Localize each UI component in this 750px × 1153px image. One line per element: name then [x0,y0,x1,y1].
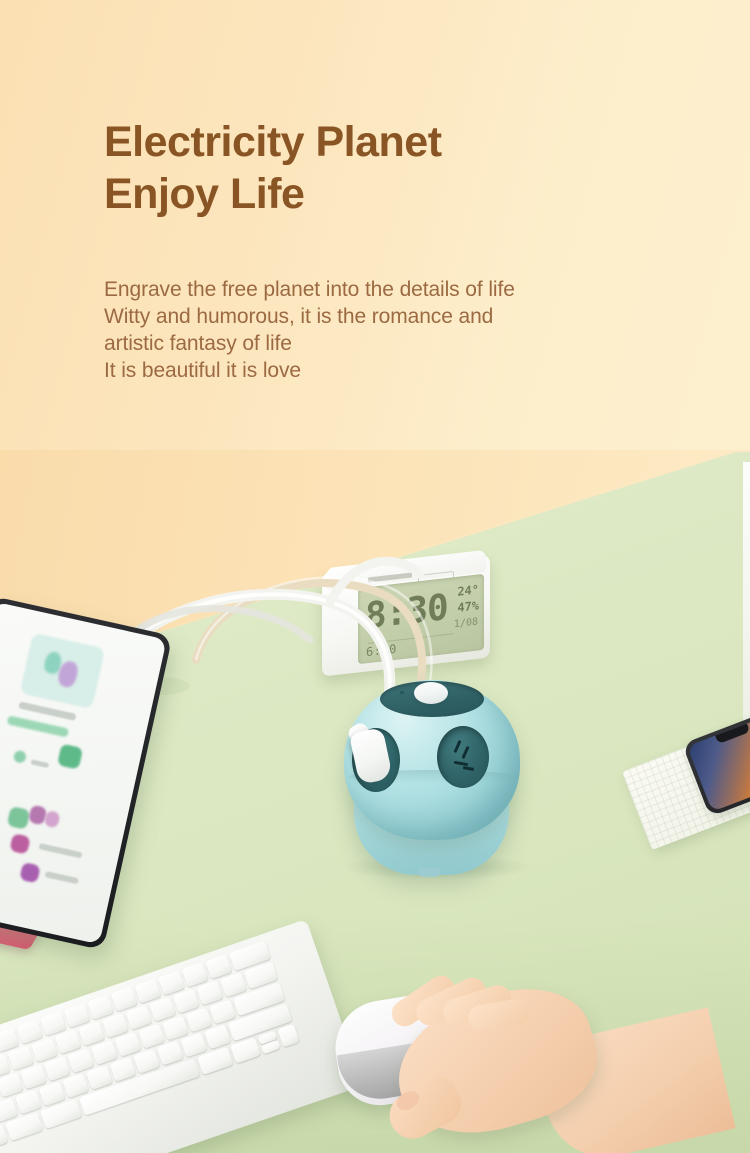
mouse-and-hand [336,988,750,1153]
notebook-with-phone [632,728,750,878]
page-title: Electricity Planet Enjoy Life [104,116,442,220]
tablet-body [0,596,173,951]
app-icon [57,743,83,769]
clock-alarm-time: 6:00 [366,642,397,660]
keyboard-key[interactable] [15,1089,42,1114]
app-icon [7,806,31,830]
app-text-line [44,871,78,884]
right-edge-strip [743,462,750,722]
hand-on-mouse [358,982,688,1153]
power-button[interactable] [414,682,448,704]
app-highlight-bar [7,715,69,737]
keyboard-key-arrow-right[interactable] [277,1024,299,1047]
product-lifestyle-photo: 8:30 24° 47% 1/08 6:00 [0,450,750,1153]
clock-lcd-screen: 8:30 24° 47% 1/08 6:00 [358,574,484,664]
socket-indicator-dot [400,691,404,694]
spherical-power-socket [330,678,535,878]
app-text-line [38,843,82,858]
product-promo-page: Electricity Planet Enjoy Life Engrave th… [0,0,750,1153]
page-subtitle: Engrave the free planet into the details… [104,276,515,384]
app-text-line [31,759,50,768]
socket-bottom-tab [418,868,440,877]
clock-humidity: 47% [457,598,479,614]
app-icon [19,862,40,883]
digital-alarm-clock: 8:30 24° 47% 1/08 6:00 [322,555,490,670]
tablet-device [0,612,154,942]
keyboard-key[interactable] [204,1024,231,1049]
app-text-line [18,701,76,720]
app-icon [13,750,27,764]
clock-time: 8:30 [365,590,448,635]
keyboard-key-option-right[interactable] [230,1037,261,1063]
app-icon [9,833,30,854]
clock-date: 1/08 [454,617,478,631]
clock-temperature: 24° [457,582,479,598]
hero-text-banner: Electricity Planet Enjoy Life Engrave th… [0,0,750,470]
app-icon [44,810,61,829]
tablet-screen [0,602,167,945]
